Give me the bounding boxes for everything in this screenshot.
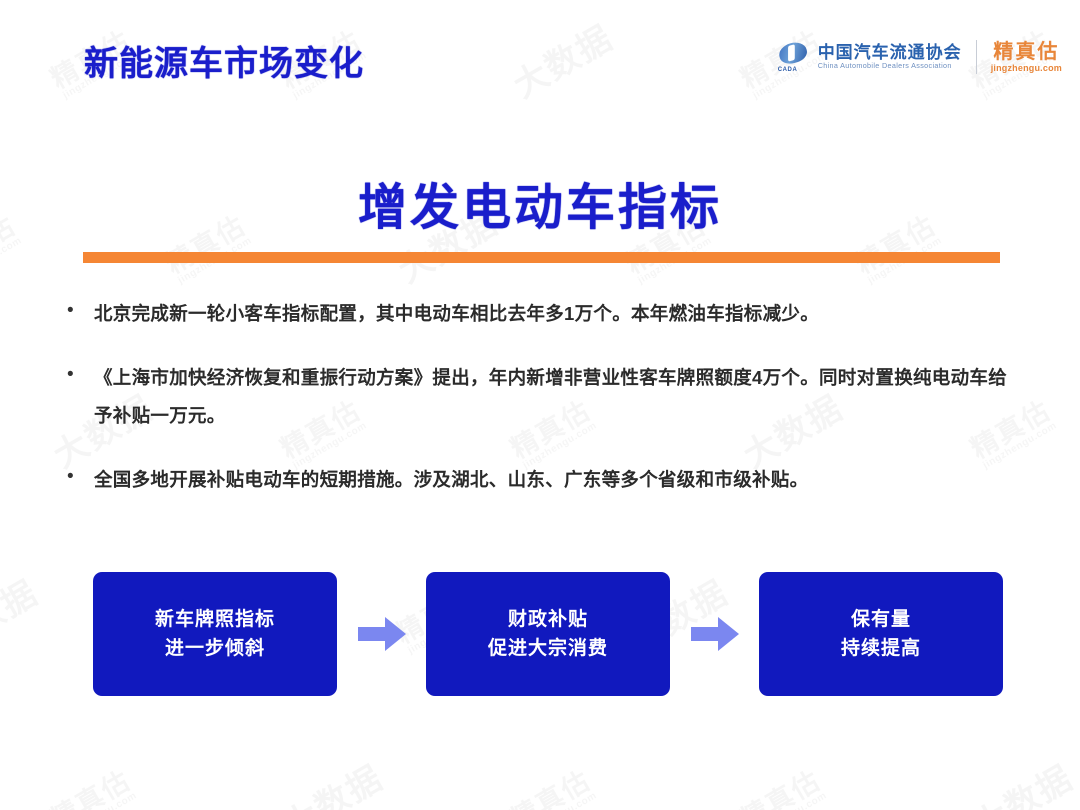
cada-name-en: China Automobile Dealers Association	[818, 62, 962, 69]
bullet-list: •北京完成新一轮小客车指标配置，其中电动车相比去年多1万个。本年燃油车指标减少。…	[62, 295, 1022, 525]
bullet-item: •全国多地开展补贴电动车的短期措施。涉及湖北、山东、广东等多个省级和市级补贴。	[62, 461, 1022, 499]
bullet-text: 北京完成新一轮小客车指标配置，其中电动车相比去年多1万个。本年燃油车指标减少。	[94, 295, 1022, 333]
flow-box-line2: 持续提高	[841, 636, 921, 662]
watermark-tile: 精真估jingzhengu.com	[506, 766, 601, 810]
arrow-head	[385, 617, 406, 651]
watermark-main-text: 精真估	[506, 766, 596, 810]
watermark-sub-text: jingzhengu.com	[520, 790, 601, 810]
arrow-head	[718, 617, 739, 651]
corner-stripe	[1068, 580, 1080, 810]
watermark-alt-text: 大数据	[0, 575, 45, 660]
flow-box-1[interactable]: 新车牌照指标进一步倾斜	[93, 572, 337, 696]
flow-diagram: 新车牌照指标进一步倾斜财政补贴促进大宗消费保有量持续提高	[93, 572, 1003, 696]
flow-box-line1: 财政补贴	[508, 607, 588, 633]
logo-cada: CADA 中国汽车流通协会 China Automobile Dealers A…	[777, 42, 962, 72]
bullet-marker-icon: •	[62, 461, 94, 493]
cada-emblem-icon: CADA	[777, 42, 811, 72]
cada-name-cn: 中国汽车流通协会	[818, 44, 962, 61]
logo-divider	[976, 40, 977, 74]
title-underline-rule	[83, 252, 1000, 263]
right-arrow-icon	[691, 617, 739, 651]
logo-group: CADA 中国汽车流通协会 China Automobile Dealers A…	[777, 40, 1062, 74]
watermark-main-text: 精真估	[46, 766, 136, 810]
bullet-text: 全国多地开展补贴电动车的短期措施。涉及湖北、山东、广东等多个省级和市级补贴。	[94, 461, 1022, 499]
flow-box-3[interactable]: 保有量持续提高	[759, 572, 1003, 696]
corner-stripe	[994, 580, 1080, 810]
flow-box-2[interactable]: 财政补贴促进大宗消费	[426, 572, 670, 696]
flow-box-line1: 新车牌照指标	[155, 607, 275, 633]
bullet-marker-icon: •	[62, 359, 94, 391]
watermark-tile: 大数据	[0, 575, 45, 660]
cada-name-block: 中国汽车流通协会 China Automobile Dealers Associ…	[818, 44, 962, 69]
jingzhengu-name-cn: 精真估	[993, 42, 1059, 62]
watermark-tile: 大数据	[278, 760, 389, 810]
header-title: 新能源车市场变化	[84, 36, 364, 85]
logo-jingzhengu: 精真估 jingzhengu.com	[991, 42, 1062, 73]
arrow-shaft	[358, 627, 386, 641]
watermark-alt-text: 大数据	[278, 760, 389, 810]
corner-stripe	[1035, 580, 1080, 810]
bullet-item: •北京完成新一轮小客车指标配置，其中电动车相比去年多1万个。本年燃油车指标减少。	[62, 295, 1022, 333]
bullet-item: •《上海市加快经济恢复和重振行动方案》提出，年内新增非营业性客车牌照额度4万个。…	[62, 359, 1022, 435]
watermark-tile: 精真估jingzhengu.com	[46, 766, 141, 810]
cada-mark-text: CADA	[778, 67, 798, 73]
watermark-sub-text: jingzhengu.com	[60, 790, 141, 810]
watermark-sub-text: jingzhengu.com	[750, 790, 831, 810]
right-arrow-icon	[358, 617, 406, 651]
arrow-shaft	[691, 627, 719, 641]
watermark-tile: 大数据	[968, 760, 1079, 810]
watermark-main-text: 精真估	[736, 766, 826, 810]
flow-box-line2: 促进大宗消费	[488, 636, 608, 662]
watermark-sub-text: jingzhengu.com	[0, 235, 26, 288]
cada-swoosh-shape	[776, 40, 808, 67]
watermark-tile: 精真估jingzhengu.com	[736, 766, 831, 810]
flow-arrow-1	[337, 617, 426, 651]
watermark-alt-text: 大数据	[968, 760, 1079, 810]
slide-header: 新能源车市场变化 CADA 中国汽车流通协会 China Automobile …	[0, 0, 1080, 110]
jingzhengu-name-en: jingzhengu.com	[991, 64, 1062, 73]
page-title: 增发电动车指标	[0, 168, 1080, 239]
flow-arrow-2	[670, 617, 759, 651]
bullet-text: 《上海市加快经济恢复和重振行动方案》提出，年内新增非营业性客车牌照额度4万个。同…	[94, 359, 1022, 435]
flow-box-line1: 保有量	[851, 607, 911, 633]
bullet-marker-icon: •	[62, 295, 94, 327]
flow-box-line2: 进一步倾斜	[165, 636, 265, 662]
